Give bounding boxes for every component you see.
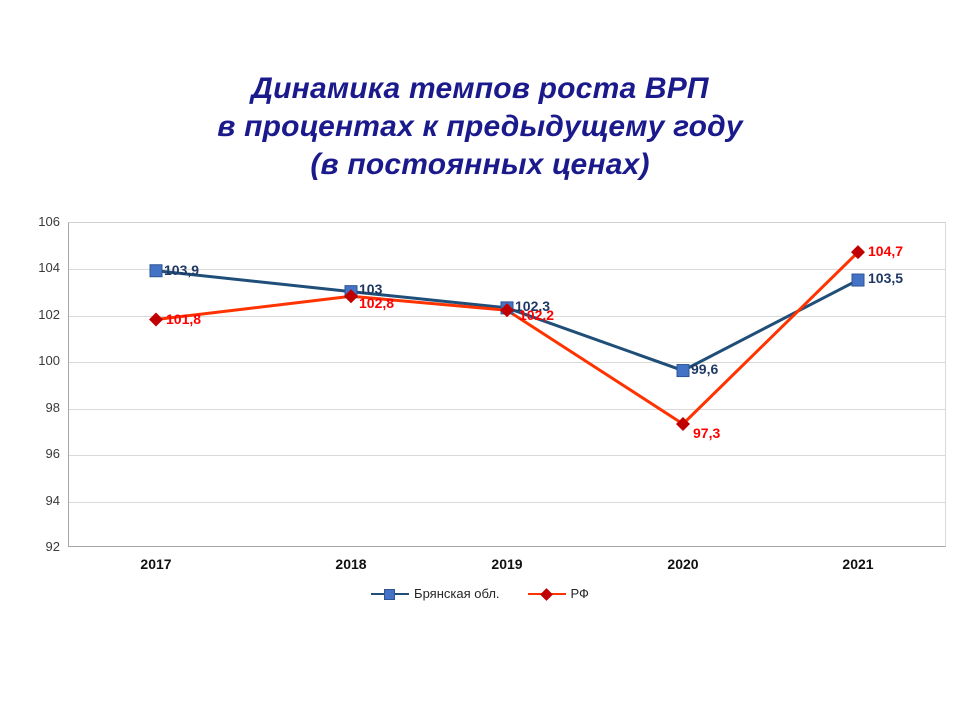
- legend-item-bryansk[interactable]: Брянская обл.: [371, 586, 499, 601]
- x-tick-label: 2021: [818, 556, 898, 572]
- chart-container: Динамика темпов роста ВРП в процентах к …: [0, 0, 960, 720]
- data-label: 102,2: [519, 307, 554, 323]
- chart-legend: Брянская обл. РФ: [0, 586, 960, 601]
- data-label: 103: [359, 281, 382, 297]
- gridline: [69, 409, 945, 410]
- square-marker-icon: [371, 587, 409, 601]
- data-label: 103,5: [868, 270, 903, 286]
- x-tick-label: 2017: [116, 556, 196, 572]
- data-label: 103,9: [164, 262, 199, 278]
- data-label: 101,8: [166, 311, 201, 327]
- gridline: [69, 502, 945, 503]
- x-tick-label: 2020: [643, 556, 723, 572]
- legend-label-rf: РФ: [571, 586, 589, 601]
- y-tick-label: 100: [16, 353, 60, 368]
- x-tick-label: 2019: [467, 556, 547, 572]
- y-tick-label: 96: [16, 446, 60, 461]
- chart-title: Динамика темпов роста ВРП в процентах к …: [0, 70, 960, 184]
- data-label: 97,3: [693, 425, 720, 441]
- diamond-marker-icon: [528, 587, 566, 601]
- gridline: [69, 269, 945, 270]
- gridline: [69, 362, 945, 363]
- legend-label-bryansk: Брянская обл.: [414, 586, 499, 601]
- y-tick-label: 102: [16, 307, 60, 322]
- y-tick-label: 92: [16, 539, 60, 554]
- data-label: 104,7: [868, 243, 903, 259]
- gridline: [69, 455, 945, 456]
- y-tick-label: 104: [16, 260, 60, 275]
- data-label: 102,8: [359, 295, 394, 311]
- y-tick-label: 98: [16, 400, 60, 415]
- y-tick-label: 106: [16, 214, 60, 229]
- legend-item-rf[interactable]: РФ: [528, 586, 589, 601]
- y-tick-label: 94: [16, 493, 60, 508]
- plot-area: [68, 222, 946, 547]
- x-tick-label: 2018: [311, 556, 391, 572]
- data-label: 99,6: [691, 361, 718, 377]
